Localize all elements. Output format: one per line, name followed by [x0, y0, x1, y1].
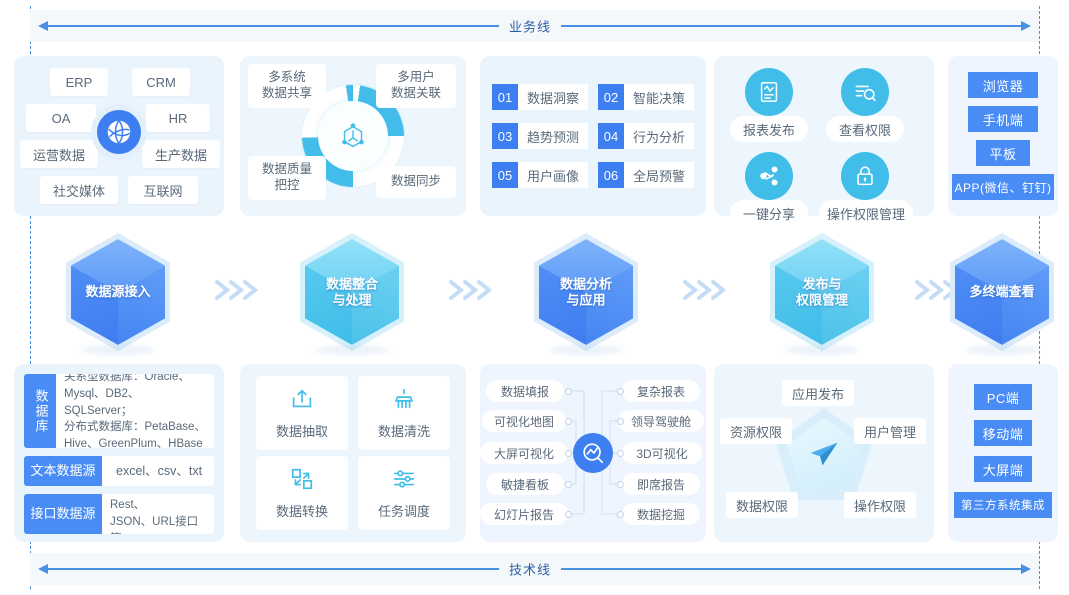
- hex-label-line-2: 与应用: [534, 292, 638, 308]
- stage-hex-data-source-access[interactable]: 数据源接入: [66, 233, 170, 351]
- chevron-separator-3: [680, 277, 730, 303]
- card-task-schedule[interactable]: 任务调度: [358, 456, 450, 530]
- chevron-separator-1: [212, 277, 262, 303]
- value-line-4: Hive、GreenPlum、HBase: [64, 436, 206, 448]
- node-dot: [617, 511, 624, 518]
- item-data-insight[interactable]: 01 数据洞察: [492, 84, 588, 110]
- lock-icon[interactable]: [841, 152, 889, 200]
- value-line-3: 分布式数据库：PetaBase、: [64, 419, 206, 436]
- value-line-1: WebService、Rest、: [110, 494, 206, 514]
- broom-clean-icon: [391, 386, 417, 415]
- item-number: 04: [598, 123, 624, 149]
- panel-data-sources: ERP CRM OA HR 运营数据 生产数据 社交媒体 互联网: [14, 56, 224, 216]
- chip-pc[interactable]: PC端: [974, 384, 1032, 410]
- hex-node-icon: [330, 113, 376, 159]
- node-dot: [617, 418, 624, 425]
- pill-large-screen-visual[interactable]: 大屏可视化: [480, 442, 568, 464]
- tag-line-2: 数据关联: [391, 86, 441, 102]
- hex-label-line-2: 权限管理: [770, 292, 874, 308]
- pill-complex-report[interactable]: 复杂报表: [622, 380, 700, 402]
- item-label: 智能决策: [624, 84, 694, 110]
- panel-analysis-mindmap: 数据填报 可视化地图 大屏可视化 敏捷看板 幻灯片报告 复杂报表 领导驾驶舱 3…: [480, 364, 706, 542]
- node-dot: [565, 388, 572, 395]
- tag-multi-system-share[interactable]: 多系统 数据共享: [248, 64, 326, 108]
- item-number: 05: [492, 162, 518, 188]
- card-data-transform[interactable]: 数据转换: [256, 456, 348, 530]
- search-list-icon[interactable]: [841, 68, 889, 116]
- hex-label: 数据分析 与应用: [534, 276, 638, 307]
- hex-label-line-1: 发布与: [770, 276, 874, 292]
- pill-adhoc-report[interactable]: 即席报告: [622, 473, 700, 495]
- business-line-label: 业务线: [499, 17, 561, 36]
- item-trend-forecast[interactable]: 03 趋势预测: [492, 123, 588, 149]
- pill-slide-report[interactable]: 幻灯片报告: [480, 503, 568, 525]
- panel-publish-permissions: 报表发布 查看权限 一键分享 操作权限管理: [714, 56, 934, 216]
- pill-agile-dashboard[interactable]: 敏捷看板: [486, 473, 564, 495]
- tag-line-2: 数据共享: [262, 86, 312, 102]
- tag-data-sync[interactable]: 数据同步: [376, 166, 456, 198]
- item-number: 02: [598, 84, 624, 110]
- card-label: 数据清洗: [378, 421, 430, 440]
- technical-line-label: 技术线: [499, 560, 561, 579]
- row-key-api-source: 接口数据源: [24, 494, 102, 534]
- tag-social-media[interactable]: 社交媒体: [40, 176, 118, 204]
- node-dot: [617, 388, 624, 395]
- tag-operations-data[interactable]: 运营数据: [20, 140, 98, 168]
- panel-database-sources: 数据库 关系型数据库：Oracle、 Mysql、DB2、SQLServer； …: [14, 364, 224, 542]
- panel-terminal-chips: PC端 移动端 大屏端 第三方系统集成: [948, 364, 1058, 542]
- item-label: 用户画像: [518, 162, 588, 188]
- panel-multi-terminal: 浏览器 手机端 平板 APP(微信、钉钉): [948, 56, 1058, 216]
- chip-browser[interactable]: 浏览器: [968, 72, 1038, 98]
- chevron-separator-2: [446, 277, 496, 303]
- row-text-source[interactable]: 文本数据源 excel、csv、txt: [24, 456, 214, 486]
- node-dot: [617, 481, 624, 488]
- hex-label-line-1: 数据源接入: [66, 284, 170, 300]
- node-dot: [565, 481, 572, 488]
- hex-label-line-1: 数据整合: [300, 276, 404, 292]
- analytics-search-icon[interactable]: [573, 433, 613, 473]
- item-label: 行为分析: [624, 123, 694, 149]
- globe-network-icon: [97, 110, 141, 154]
- hex-label: 数据整合 与处理: [300, 276, 404, 307]
- arrow-head-left-bottom: [38, 564, 48, 574]
- card-data-clean[interactable]: 数据清洗: [358, 376, 450, 450]
- node-dot: [565, 418, 572, 425]
- sliders-schedule-icon: [391, 466, 417, 495]
- item-label: 全局预警: [624, 162, 694, 188]
- tag-hr[interactable]: HR: [146, 104, 210, 132]
- chip-third-party-integration[interactable]: 第三方系统集成: [954, 492, 1052, 518]
- node-dot: [617, 450, 624, 457]
- technical-line-axis: 技术线: [30, 553, 1039, 585]
- stage-hex-data-analysis[interactable]: 数据分析 与应用: [534, 233, 638, 351]
- pill-executive-cockpit[interactable]: 领导驾驶舱: [618, 410, 704, 432]
- hex-label-line-2: 与处理: [300, 292, 404, 308]
- row-value-api-source: WebService、Rest、 JSON、URL接口等: [102, 494, 214, 534]
- pill-data-entry[interactable]: 数据填报: [486, 380, 564, 402]
- item-number: 01: [492, 84, 518, 110]
- row-database[interactable]: 数据库 关系型数据库：Oracle、 Mysql、DB2、SQLServer； …: [24, 374, 214, 448]
- tag-operation-permission[interactable]: 操作权限: [844, 492, 916, 518]
- tag-resource-permission[interactable]: 资源权限: [720, 418, 792, 444]
- tag-line-2: 把控: [274, 178, 299, 194]
- tag-multi-user-relation[interactable]: 多用户 数据关联: [376, 64, 456, 108]
- item-number: 06: [598, 162, 624, 188]
- item-number: 03: [492, 123, 518, 149]
- item-smart-decision[interactable]: 02 智能决策: [598, 84, 694, 110]
- row-value-text-source: excel、csv、txt: [102, 456, 210, 486]
- chip-large-screen[interactable]: 大屏端: [974, 456, 1032, 482]
- tag-internet[interactable]: 互联网: [128, 176, 198, 204]
- upload-box-icon: [289, 386, 315, 415]
- business-line-axis: 业务线: [30, 10, 1039, 42]
- value-line-2: Mysql、DB2、SQLServer；: [64, 386, 206, 419]
- row-api-source[interactable]: 接口数据源 WebService、Rest、 JSON、URL接口等: [24, 494, 214, 534]
- arrow-head-right-top: [1021, 21, 1031, 31]
- hex-label: 数据源接入: [66, 284, 170, 300]
- tag-data-quality-control[interactable]: 数据质量 把控: [248, 156, 326, 200]
- card-data-extract[interactable]: 数据抽取: [256, 376, 348, 450]
- tag-oa[interactable]: OA: [26, 104, 96, 132]
- chip-app[interactable]: APP(微信、钉钉): [952, 174, 1054, 200]
- row-key-text-source: 文本数据源: [24, 456, 102, 486]
- tag-production-data[interactable]: 生产数据: [142, 140, 220, 168]
- label-operation-permission[interactable]: 操作权限管理: [819, 200, 913, 226]
- hex-label-line-1: 多终端查看: [950, 284, 1054, 300]
- label-view-permission[interactable]: 查看权限: [826, 116, 904, 142]
- panel-data-integration: 多系统 数据共享 多用户 数据关联 数据质量 把控 数据同步: [240, 56, 466, 216]
- pill-3d-visual[interactable]: 3D可视化: [622, 442, 702, 464]
- chip-tablet[interactable]: 平板: [976, 140, 1030, 166]
- node-dot: [565, 511, 572, 518]
- report-document-icon[interactable]: [745, 68, 793, 116]
- tag-app-publish[interactable]: 应用发布: [782, 380, 854, 406]
- pill-visual-map[interactable]: 可视化地图: [482, 410, 566, 432]
- tag-data-permission[interactable]: 数据权限: [726, 492, 798, 518]
- stage-hex-data-integration[interactable]: 数据整合 与处理: [300, 233, 404, 351]
- globe-icon-wrap: [91, 104, 147, 160]
- tag-crm[interactable]: CRM: [132, 68, 190, 96]
- hex-shadow: [315, 345, 390, 355]
- hex-shadow: [965, 345, 1040, 355]
- hex-shadow: [785, 345, 860, 355]
- hex-shadow: [549, 345, 624, 355]
- row-key-database: 数据库: [24, 374, 56, 448]
- item-behavior-analysis[interactable]: 04 行为分析: [598, 123, 694, 149]
- panel-etl-cards: 数据抽取 数据清洗 数据转换: [240, 364, 466, 542]
- pill-data-mining[interactable]: 数据挖掘: [622, 503, 700, 525]
- tag-line-1: 多系统: [268, 70, 306, 86]
- card-label: 数据抽取: [276, 421, 328, 440]
- share-nodes-icon[interactable]: [745, 152, 793, 200]
- tag-user-management[interactable]: 用户管理: [854, 418, 926, 444]
- chip-mobile[interactable]: 手机端: [968, 106, 1038, 132]
- tag-line-1: 多用户: [397, 70, 435, 86]
- panel-permission-pentagon: 应用发布 资源权限 用户管理 数据权限 操作权限: [714, 364, 934, 542]
- item-label: 趋势预测: [518, 123, 588, 149]
- tag-erp[interactable]: ERP: [50, 68, 108, 96]
- diagram-canvas: 业务线 技术线 ERP CRM OA HR 运营数据 生产数据 社交媒体 互联网: [0, 0, 1069, 595]
- item-user-profile[interactable]: 05 用户画像: [492, 162, 588, 188]
- hex-label-line-1: 数据分析: [534, 276, 638, 292]
- row-value-database: 关系型数据库：Oracle、 Mysql、DB2、SQLServer； 分布式数…: [56, 374, 214, 448]
- transform-swap-icon: [289, 466, 315, 495]
- arrow-head-left-top: [38, 21, 48, 31]
- node-dot: [565, 450, 572, 457]
- card-label: 数据转换: [276, 501, 328, 520]
- arrow-head-right-bottom: [1021, 564, 1031, 574]
- card-label: 任务调度: [378, 501, 430, 520]
- value-line-2: JSON、URL接口等: [110, 514, 206, 534]
- tag-line-1: 数据同步: [391, 174, 441, 190]
- item-label: 数据洞察: [518, 84, 588, 110]
- hex-label: 发布与 权限管理: [770, 276, 874, 307]
- hex-label: 多终端查看: [950, 284, 1054, 300]
- value-line-1: 关系型数据库：Oracle、: [64, 374, 206, 386]
- stage-hex-multi-terminal[interactable]: 多终端查看: [950, 233, 1054, 351]
- chip-mobile[interactable]: 移动端: [974, 420, 1032, 446]
- label-report-publish[interactable]: 报表发布: [730, 116, 808, 142]
- label-one-click-share[interactable]: 一键分享: [730, 200, 808, 226]
- hex-shadow: [81, 345, 156, 355]
- tag-line-1: 数据质量: [262, 162, 312, 178]
- panel-data-analysis: 01 数据洞察 02 智能决策 03 趋势预测 04 行为分析 05 用户画像 …: [480, 56, 706, 216]
- stage-hex-publish-permission[interactable]: 发布与 权限管理: [770, 233, 874, 351]
- item-global-alert[interactable]: 06 全局预警: [598, 162, 694, 188]
